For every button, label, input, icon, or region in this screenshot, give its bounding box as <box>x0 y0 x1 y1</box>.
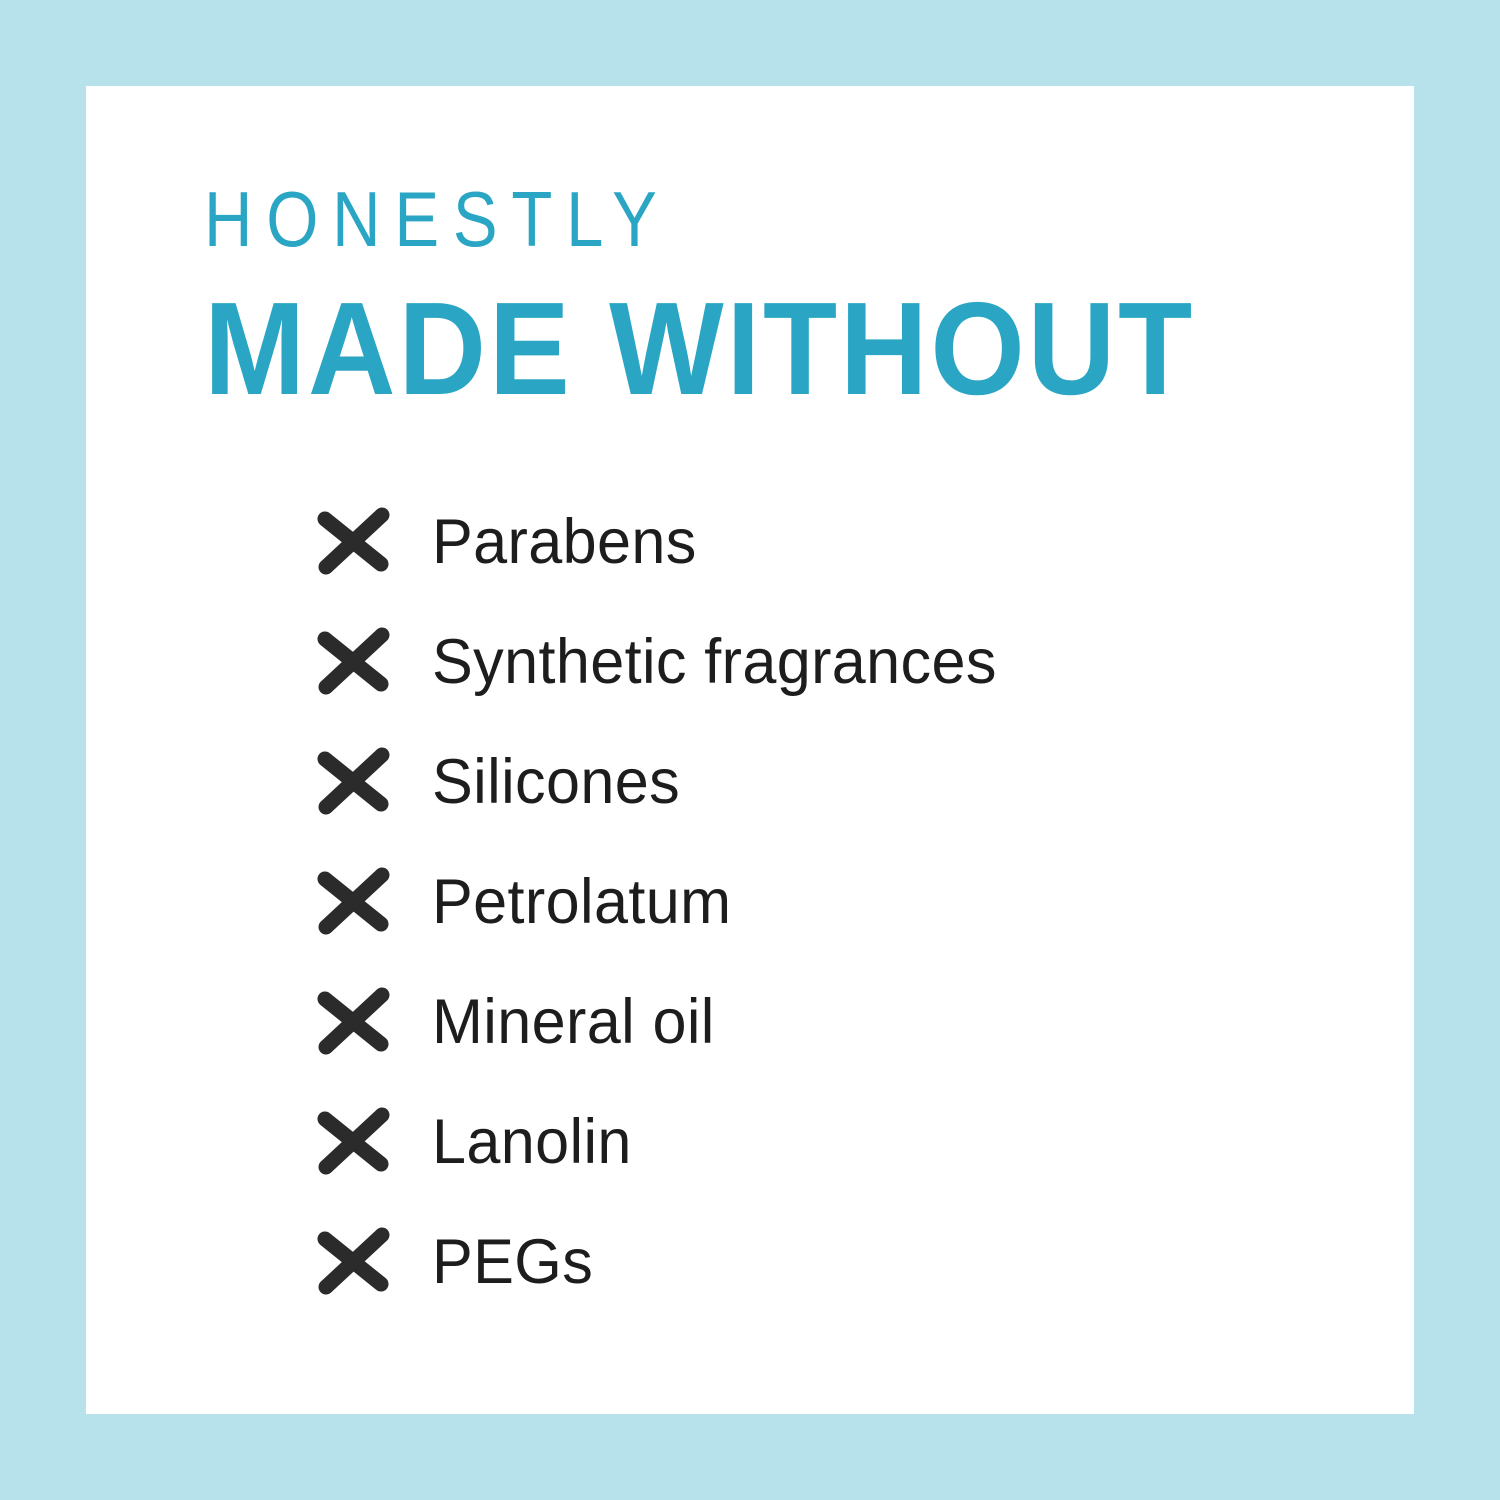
list-item-label: Petrolatum <box>432 869 731 935</box>
list-item: Silicones <box>316 722 1376 842</box>
x-mark-icon <box>316 505 390 579</box>
x-mark-icon <box>316 1225 390 1299</box>
headline-line-honestly: HONESTLY <box>204 178 1193 260</box>
list-item-label: Lanolin <box>432 1109 632 1175</box>
list-item-label: Mineral oil <box>432 989 715 1055</box>
x-mark-icon <box>316 1105 390 1179</box>
list-item: Synthetic fragrances <box>316 602 1376 722</box>
list-item-label: PEGs <box>432 1229 593 1295</box>
x-mark-icon <box>316 625 390 699</box>
free-from-list: Parabens Synthetic fragrances <box>316 482 1376 1322</box>
x-mark-icon <box>316 865 390 939</box>
list-item: PEGs <box>316 1202 1376 1322</box>
list-item-label: Silicones <box>432 749 680 815</box>
headline-line-made-without: MADE WITHOUT <box>204 286 1262 412</box>
list-item: Parabens <box>316 482 1376 602</box>
list-item-label: Synthetic fragrances <box>432 629 997 695</box>
white-content-panel: HONESTLY MADE WITHOUT Parabens <box>86 86 1414 1414</box>
list-item: Petrolatum <box>316 842 1376 962</box>
poster-canvas: HONESTLY MADE WITHOUT Parabens <box>0 0 1500 1500</box>
list-item: Lanolin <box>316 1082 1376 1202</box>
list-item-label: Parabens <box>432 509 697 575</box>
x-mark-icon <box>316 985 390 1059</box>
headline-block: HONESTLY MADE WITHOUT <box>204 178 1354 412</box>
list-item: Mineral oil <box>316 962 1376 1082</box>
x-mark-icon <box>316 745 390 819</box>
